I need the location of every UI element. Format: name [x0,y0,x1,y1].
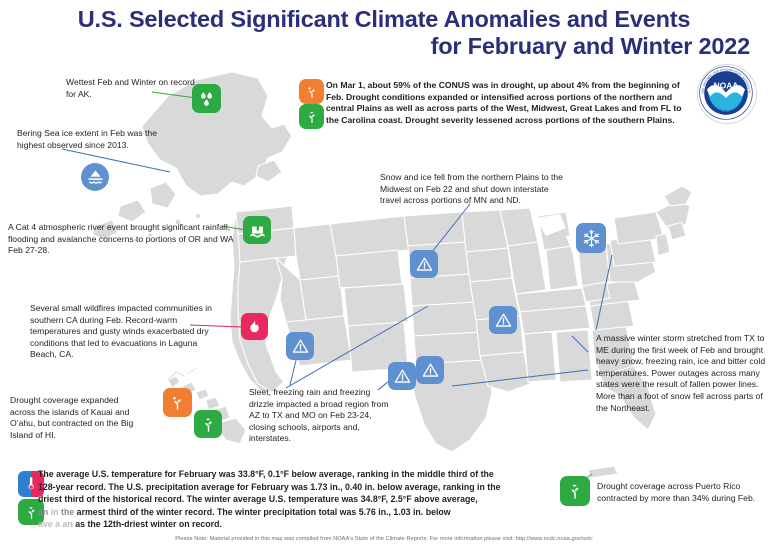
national-summary: The average U.S. temperature for Februar… [38,468,568,531]
summary-line-2: 128-year record. The U.S. precipitation … [38,481,568,494]
callout-ca-wildfires: Several small wildfires impacted communi… [30,303,226,361]
title-line-2: for February and Winter 2022 [0,33,768,60]
summary-line-1: The average U.S. temperature for Februar… [38,468,568,481]
precipitation-icon [192,84,221,113]
winter-storm-icon [410,250,438,278]
summary-line-4-c: the [61,507,74,517]
callout-bering-sea-ice: Bering Sea ice extent in Feb was the hig… [17,128,169,151]
summary-line-3: driest third of the historical record. T… [38,493,568,506]
drought-icon [299,79,324,104]
connector-winter-storm-c [572,336,588,352]
winter-storm-icon [416,356,444,384]
callout-sleet-freezing-rain: Sleet, freezing rain and freezing drizzl… [249,387,389,445]
noaa-logo: NOAA NATIONAL OCEANIC AND ATMOSPHERIC AD… [697,64,757,124]
drought-contracted-icon [299,104,324,129]
callout-puerto-rico-drought: Drought coverage across Puerto Rico cont… [597,481,762,504]
summary-line-5-b: a [55,519,60,529]
title-line-1: U.S. Selected Significant Climate Anomal… [0,6,768,33]
callout-hawaii-drought: Drought coverage expanded across the isl… [10,395,140,441]
callout-northern-plains-snow: Snow and ice fell from the northern Plai… [380,172,570,207]
winter-storm-icon [286,332,314,360]
noaa-wordmark: NOAA [714,81,739,91]
flooding-icon [243,216,271,244]
callout-conus-drought: On Mar 1, about 59% of the CONUS was in … [326,80,690,126]
drought-contracted-icon [194,410,222,438]
winter-storm-icon [489,306,517,334]
summary-line-4-b: in [51,507,59,517]
connector-bering [62,149,170,172]
connector-winter-storm-a [596,255,612,330]
summary-line-5: ave a an as the 12th-driest winter on re… [38,518,568,531]
summary-line-5-a: ave [38,519,53,529]
summary-line-5-d: as the 12th-driest winter on record. [75,519,222,529]
summary-line-4-d: armest third of the winter record. The w… [77,507,451,517]
summary-line-4: an in the armest third of the winter rec… [38,506,568,519]
callout-massive-winter-storm: A massive winter storm stretched from TX… [596,333,766,414]
winter-storm-icon [388,362,416,390]
summary-line-5-c: an [63,519,73,529]
sea-ice-icon [81,163,109,191]
footer-note: Please Note: Material provided in this m… [0,536,768,542]
snowflake-icon [576,223,606,253]
connector-winter-storm-b [452,370,588,386]
callout-alaska-wettest: Wettest Feb and Winter on record for AK. [66,77,196,100]
infographic-page: U.S. Selected Significant Climate Anomal… [0,0,768,549]
summary-line-4-a: an [38,507,48,517]
wildfire-icon [241,313,268,340]
drought-icon [163,388,192,417]
page-title: U.S. Selected Significant Climate Anomal… [0,6,768,60]
callout-atmospheric-river: A Cat 4 atmospheric river event brought … [8,222,240,257]
